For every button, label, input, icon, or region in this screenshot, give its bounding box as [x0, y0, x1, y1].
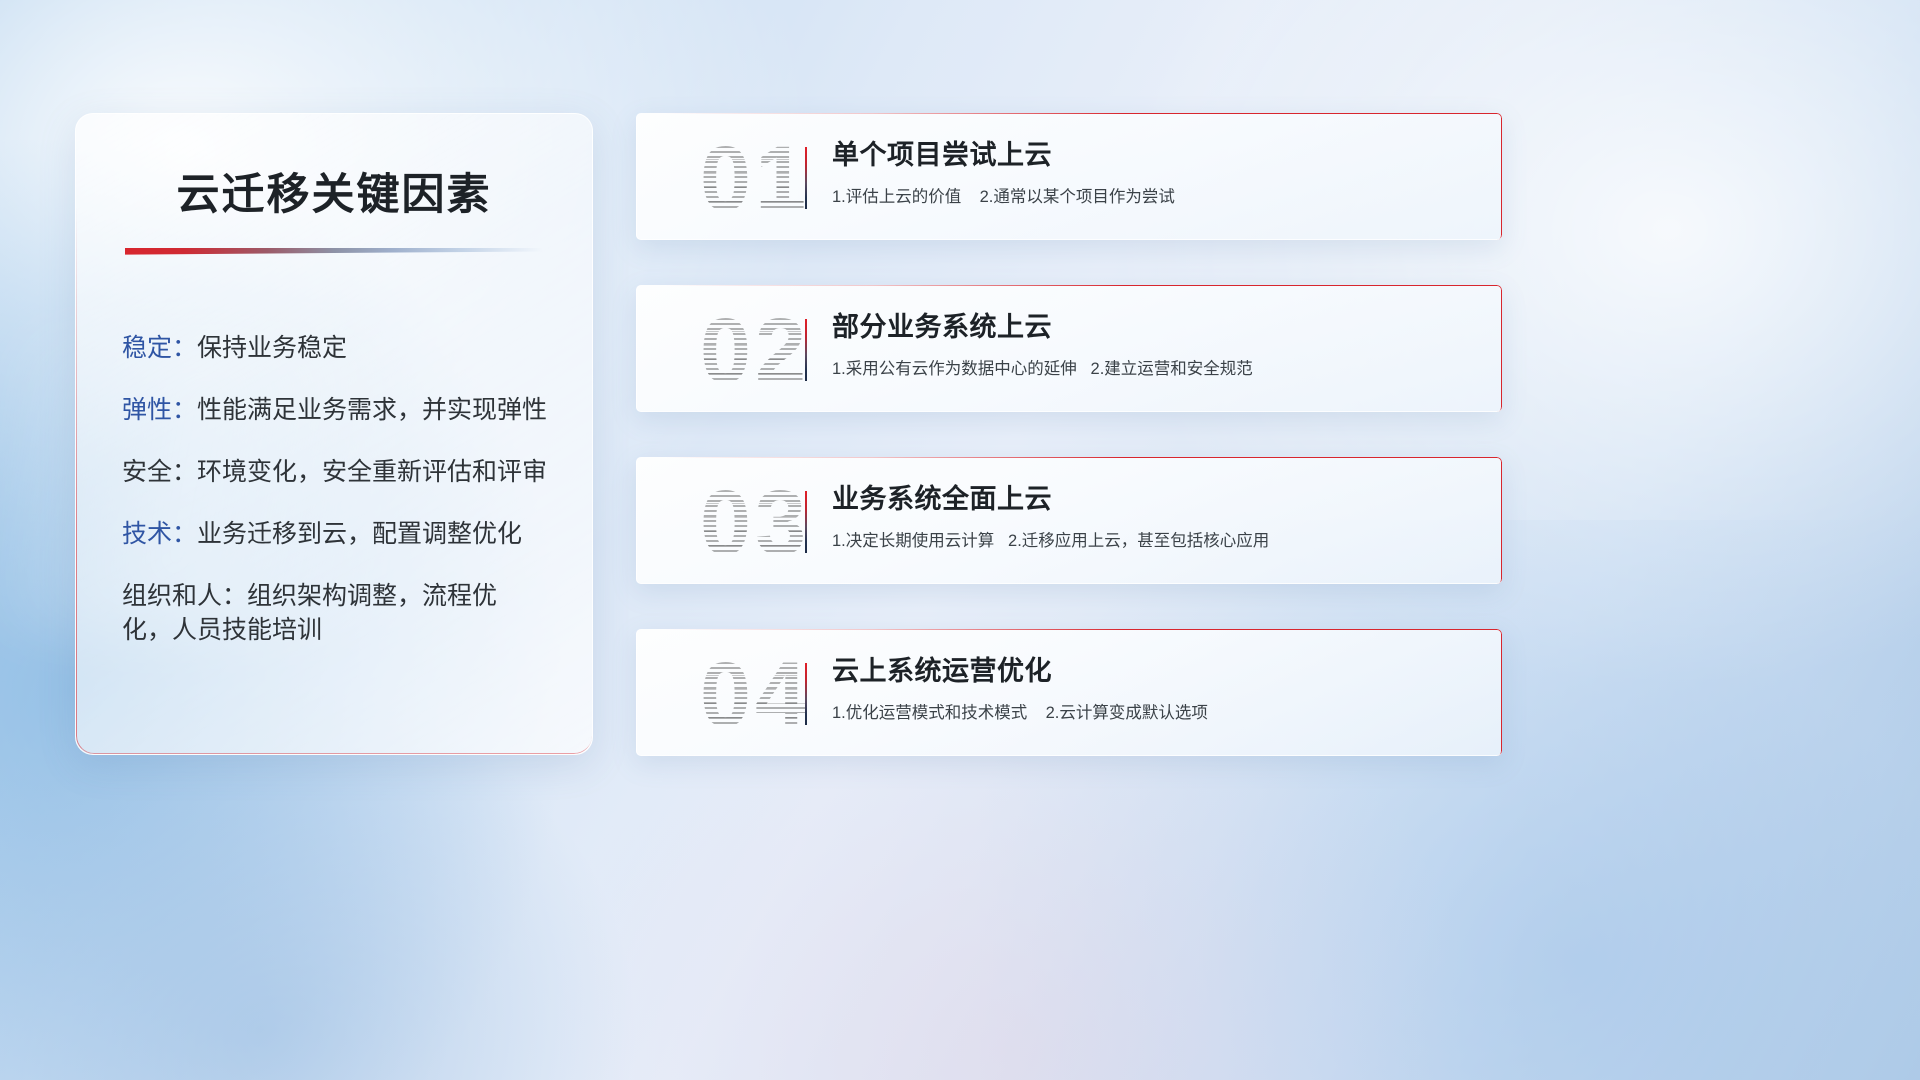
step-card[interactable]: 0202部分业务系统上云1.采用公有云作为数据中心的延伸 2.建立运营和安全规范 [636, 285, 1502, 412]
factor-label: 稳定： [122, 334, 197, 362]
step-divider-line [805, 319, 807, 381]
step-number-ghost: 04 [666, 647, 844, 743]
step-number-ghost-tint: 04 [666, 647, 844, 743]
step-card-body: 云上系统运营优化1.优化运营模式和技术模式 2.云计算变成默认选项 [832, 655, 1478, 725]
step-card[interactable]: 0303业务系统全面上云1.决定长期使用云计算 2.迁移应用上云，甚至包括核心应… [636, 457, 1502, 584]
factor-label: 弹性： [122, 396, 197, 424]
step-description: 1.决定长期使用云计算 2.迁移应用上云，甚至包括核心应用 [832, 530, 1478, 553]
factor-item: 组织和人：组织架构调整，流程优化，人员技能培训 [122, 579, 546, 647]
step-description: 1.评估上云的价值 2.通常以某个项目作为尝试 [832, 186, 1478, 209]
factor-item: 稳定：保持业务稳定 [122, 331, 546, 365]
factor-value: 环境变化，安全重新评估和评审 [197, 458, 547, 486]
step-card[interactable]: 0404云上系统运营优化1.优化运营模式和技术模式 2.云计算变成默认选项 [636, 629, 1502, 756]
factor-value: 保持业务稳定 [197, 334, 347, 362]
step-number-ghost: 01 [666, 131, 844, 227]
step-title: 单个项目尝试上云 [832, 139, 1478, 173]
step-number-ghost: 03 [666, 475, 844, 571]
factor-item: 技术：业务迁移到云，配置调整优化 [122, 517, 546, 551]
step-number-ghost-tint: 01 [666, 131, 844, 227]
migration-steps-list: 0101单个项目尝试上云1.评估上云的价值 2.通常以某个项目作为尝试0202部… [636, 113, 1502, 801]
factor-value: 业务迁移到云，配置调整优化 [197, 520, 522, 548]
factor-list: 稳定：保持业务稳定弹性：性能满足业务需求，并实现弹性安全：环境变化，安全重新评估… [122, 331, 546, 647]
factor-label: 技术： [122, 520, 197, 548]
step-card[interactable]: 0101单个项目尝试上云1.评估上云的价值 2.通常以某个项目作为尝试 [636, 113, 1502, 240]
key-factors-panel: 云迁移关键因素 稳定：保持业务稳定弹性：性能满足业务需求，并实现弹性安全：环境变… [75, 113, 593, 755]
step-number-ghost: 02 [666, 303, 844, 399]
step-number-ghost-tint: 03 [666, 475, 844, 571]
step-description: 1.优化运营模式和技术模式 2.云计算变成默认选项 [832, 702, 1478, 725]
factor-item: 安全：环境变化，安全重新评估和评审 [122, 455, 546, 489]
step-title: 部分业务系统上云 [832, 311, 1478, 345]
factor-value: 性能满足业务需求，并实现弹性 [197, 396, 547, 424]
page-title: 云迁移关键因素 [122, 170, 546, 222]
step-title: 业务系统全面上云 [832, 483, 1478, 517]
step-card-body: 部分业务系统上云1.采用公有云作为数据中心的延伸 2.建立运营和安全规范 [832, 311, 1478, 381]
step-divider-line [805, 147, 807, 209]
step-card-body: 业务系统全面上云1.决定长期使用云计算 2.迁移应用上云，甚至包括核心应用 [832, 483, 1478, 553]
step-title: 云上系统运营优化 [832, 655, 1478, 689]
step-divider-line [805, 663, 807, 725]
step-number-ghost-tint: 02 [666, 303, 844, 399]
factor-item: 弹性：性能满足业务需求，并实现弹性 [122, 393, 546, 427]
factor-label: 安全： [122, 458, 197, 486]
step-description: 1.采用公有云作为数据中心的延伸 2.建立运营和安全规范 [832, 358, 1478, 381]
step-divider-line [805, 491, 807, 553]
factor-label: 组织和人： [122, 582, 247, 610]
step-card-body: 单个项目尝试上云1.评估上云的价值 2.通常以某个项目作为尝试 [832, 139, 1478, 209]
title-underline-gradient [125, 248, 543, 255]
